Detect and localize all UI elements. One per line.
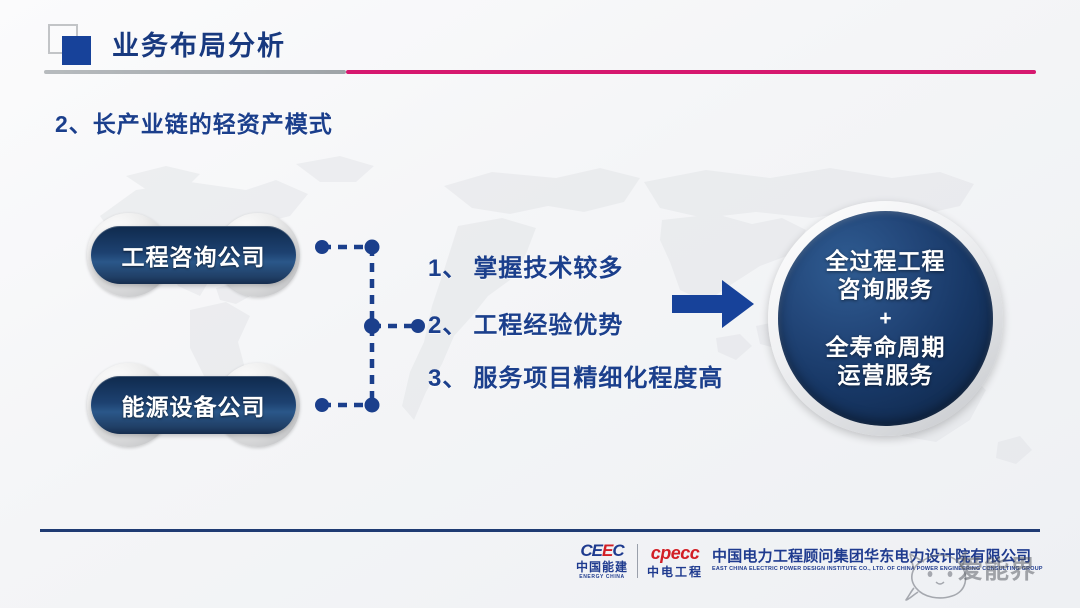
- point-number: 2、: [428, 312, 467, 339]
- ceec-name-en: ENERGY CHINA: [579, 575, 624, 580]
- point-number: 1、: [428, 255, 467, 282]
- page-title: 业务布局分析: [112, 24, 286, 63]
- circle-line-4: 运营服务: [838, 362, 934, 389]
- point-text: 服务项目精细化程度高: [473, 365, 723, 392]
- pill-body: 工程咨询公司: [91, 226, 296, 284]
- ceec-logo: CEEC 中国能建 ENERGY CHINA: [576, 542, 628, 580]
- point-item-3: 3、服务项目精细化程度高: [428, 358, 723, 393]
- header-rule-gray: [44, 70, 346, 74]
- circle-line-2: 咨询服务: [838, 276, 934, 303]
- circle-inner-fill: 全过程工程 咨询服务 + 全寿命周期 运营服务: [778, 211, 993, 426]
- institute-name-block: 中国电力工程顾问集团华东电力设计院有限公司 EAST CHINA ELECTRI…: [712, 549, 1043, 572]
- header-square-filled-icon: [62, 36, 91, 65]
- box-energy-equipment: 能源设备公司: [87, 363, 300, 447]
- point-text: 掌握技术较多: [473, 255, 623, 282]
- circle-plus-symbol: +: [879, 305, 891, 332]
- institute-name-en: EAST CHINA ELECTRIC POWER DESIGN INSTITU…: [712, 567, 1043, 572]
- section-subtitle: 2、长产业链的轻资产模式: [55, 105, 333, 139]
- footer-logo-group: CEEC 中国能建 ENERGY CHINA cpecc 中电工程 中国电力工程…: [576, 538, 1043, 584]
- point-item-1: 1、掌握技术较多: [428, 248, 623, 283]
- ceec-mark-left: CE: [580, 541, 602, 560]
- ceec-mark-mid: E: [602, 541, 612, 560]
- cpecc-logo: cpecc 中电工程: [647, 544, 703, 578]
- right-arrow-icon: [670, 278, 756, 330]
- ceec-name-cn: 中国能建: [576, 561, 628, 573]
- point-text: 工程经验优势: [473, 312, 623, 339]
- box-label: 能源设备公司: [122, 388, 266, 422]
- box-engineering-consulting: 工程咨询公司: [87, 213, 300, 297]
- ceec-mark-right: C: [612, 541, 623, 560]
- result-circle: 全过程工程 咨询服务 + 全寿命周期 运营服务: [768, 201, 1003, 436]
- circle-line-1: 全过程工程: [826, 248, 946, 275]
- cpecc-wordmark: cpecc: [651, 544, 700, 562]
- circle-line-3: 全寿命周期: [826, 334, 946, 361]
- cpecc-name-cn: 中电工程: [647, 566, 703, 578]
- slide-canvas: 业务布局分析 2、长产业链的轻资产模式 工程咨询公司 能源设备公司: [0, 0, 1080, 608]
- footer-rule: [40, 529, 1040, 532]
- institute-name-cn: 中国电力工程顾问集团华东电力设计院有限公司: [712, 549, 1043, 564]
- point-item-2: 2、工程经验优势: [428, 305, 623, 340]
- ceec-wordmark: CEEC: [580, 542, 623, 559]
- box-label: 工程咨询公司: [122, 238, 266, 272]
- pill-body: 能源设备公司: [91, 376, 296, 434]
- header-rule-pink: [346, 70, 1036, 74]
- logo-divider: [637, 544, 638, 578]
- point-number: 3、: [428, 365, 467, 392]
